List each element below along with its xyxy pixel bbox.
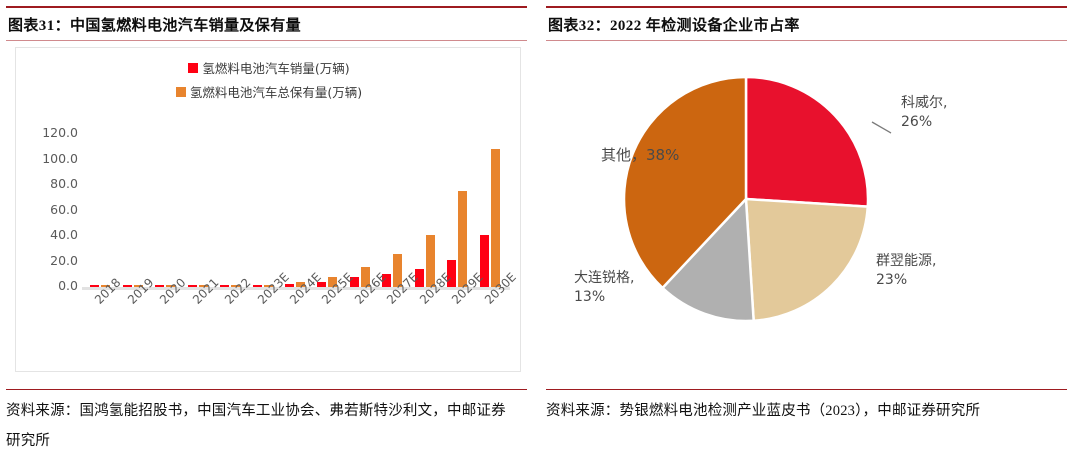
legend-swatch-orange [176, 87, 186, 97]
figure-32-header: 图表32：2022 年检测设备企业市占率 [546, 6, 1067, 41]
pie-slice [746, 199, 868, 321]
figure-32-source-block: 资料来源：势银燃料电池检测产业蓝皮书（2023），中邮证券研究所 [546, 389, 1067, 426]
y-tick-label: 100.0 [16, 150, 78, 168]
bar-group [474, 134, 506, 287]
pie-label-kewei-name: 科威尔, [901, 94, 947, 113]
pie-label-kewei: 科威尔, 26% [901, 94, 947, 132]
y-tick-label: 0.0 [16, 277, 78, 295]
title-rule-bottom [546, 40, 1067, 41]
bar-plot-area [84, 134, 506, 287]
bar-group [181, 134, 213, 287]
panel-figure-31: 图表31：中国氢燃料电池汽车销量及保有量 氢燃料电池汽车销量(万辆) 氢燃料电池… [6, 0, 527, 468]
bar-group [344, 134, 376, 287]
y-tick-label: 120.0 [16, 124, 78, 142]
bar-sales [188, 285, 197, 287]
figure-32-title: 图表32：2022 年检测设备企业市占率 [546, 8, 1067, 40]
pie-label-dalian-value: 13% [574, 288, 634, 307]
legend-item-sales: 氢燃料电池汽车销量(万辆) [188, 58, 349, 77]
bar-group [376, 134, 408, 287]
pie-label-qunyi-name: 群翌能源, [876, 252, 936, 271]
legend-swatch-red [188, 63, 198, 73]
pie-slice [746, 77, 868, 207]
bar-sales [253, 285, 262, 287]
pie-label-dalian: 大连锐格, 13% [574, 269, 634, 307]
bar-group [246, 134, 278, 287]
figure-31-source-block: 资料来源：国鸿氢能招股书，中国汽车工业协会、弗若斯特沙利文，中邮证券研究所 [6, 389, 527, 456]
bar-chart-legend: 氢燃料电池汽车销量(万辆) 氢燃料电池汽车总保有量(万辆) [16, 58, 522, 101]
bar-group [409, 134, 441, 287]
bar-group [149, 134, 181, 287]
bar-sales [90, 285, 99, 287]
bar-group [311, 134, 343, 287]
legend-item-ownership: 氢燃料电池汽车总保有量(万辆) [176, 82, 362, 101]
y-tick-label: 80.0 [16, 175, 78, 193]
bar-group [279, 134, 311, 287]
pie-label-kewei-value: 26% [901, 113, 947, 132]
x-axis-labels: 201820192020202120222023E2024E2025E2026E… [84, 291, 506, 361]
figure-31-header: 图表31：中国氢燃料电池汽车销量及保有量 [6, 6, 527, 41]
pie-label-other-name: 其他， [601, 146, 646, 164]
pie-callout-leader-line [872, 122, 891, 133]
pie-label-qunyi-value: 23% [876, 271, 936, 290]
pie-label-dalian-name: 大连锐格, [574, 269, 634, 288]
bar-group [441, 134, 473, 287]
figure-31-title: 图表31：中国氢燃料电池汽车销量及保有量 [6, 8, 527, 40]
pie-label-other: 其他，38% [601, 146, 679, 165]
bar-ownership [458, 191, 467, 287]
bar-ownership [491, 149, 500, 287]
pie-chart-container: 科威尔, 26% 群翌能源, 23% 大连锐格, 13% 其他，38% [546, 47, 1067, 372]
panel-figure-32: 图表32：2022 年检测设备企业市占率 科威尔, 26% 群翌能源, 23% … [546, 0, 1067, 468]
bar-group [84, 134, 116, 287]
figure-32-source: 资料来源：势银燃料电池检测产业蓝皮书（2023），中邮证券研究所 [546, 390, 1051, 426]
report-figure-page: 图表31：中国氢燃料电池汽车销量及保有量 氢燃料电池汽车销量(万辆) 氢燃料电池… [0, 0, 1080, 468]
y-tick-label: 20.0 [16, 252, 78, 270]
pie-chart-svg [546, 47, 1067, 372]
bar-sales [123, 285, 132, 287]
y-tick-label: 60.0 [16, 201, 78, 219]
legend-label-ownership: 氢燃料电池汽车总保有量(万辆) [190, 82, 362, 101]
figure-31-source: 资料来源：国鸿氢能招股书，中国汽车工业协会、弗若斯特沙利文，中邮证券研究所 [6, 390, 511, 456]
bar-group [214, 134, 246, 287]
pie-label-qunyi: 群翌能源, 23% [876, 252, 936, 290]
bar-group [116, 134, 148, 287]
title-rule-bottom [6, 40, 527, 41]
y-tick-label: 40.0 [16, 226, 78, 244]
bar-chart-container: 氢燃料电池汽车销量(万辆) 氢燃料电池汽车总保有量(万辆) 120.0100.0… [15, 47, 521, 372]
pie-label-other-value: 38% [646, 146, 679, 164]
legend-label-sales: 氢燃料电池汽车销量(万辆) [202, 58, 349, 77]
